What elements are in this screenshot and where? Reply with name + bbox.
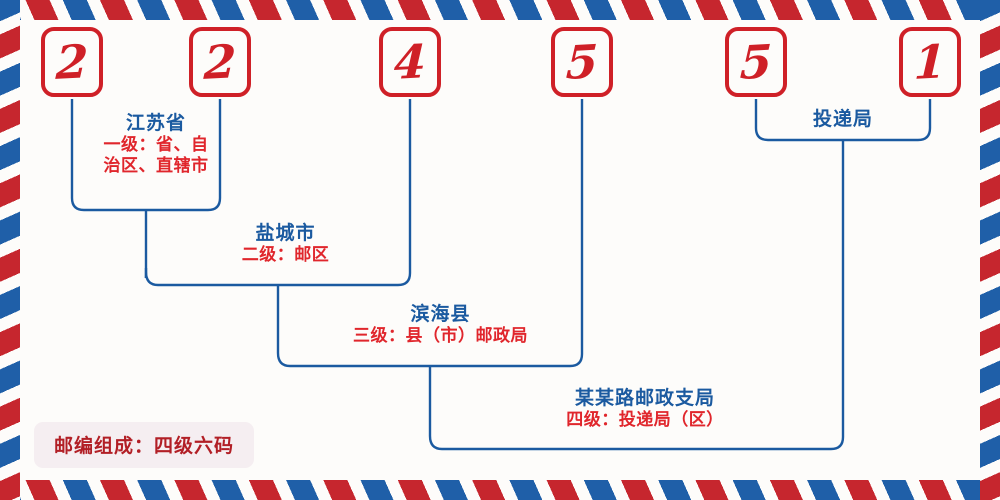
bracket-delivery-branch bbox=[430, 436, 843, 449]
level-node-delivery-branch: 某某路邮政支局 四级：投递局（区） bbox=[450, 387, 840, 431]
level-desc-postal-district: 二级：邮区 bbox=[178, 245, 393, 266]
airmail-stripes bbox=[980, 0, 1000, 500]
level-desc-county: 三级：县（市）邮政局 bbox=[298, 326, 583, 347]
level-node-county: 滨海县 三级：县（市）邮政局 bbox=[298, 303, 583, 347]
level-node-postal-district: 盐城市 二级：邮区 bbox=[178, 222, 393, 266]
digit-glyph-5: 5 bbox=[739, 38, 773, 86]
level-desc-province-line1: 一级：省、自 bbox=[76, 135, 236, 156]
airmail-border-bottom bbox=[0, 480, 1000, 500]
digit-box-1[interactable]: 2 bbox=[41, 27, 103, 97]
legend-badge: 邮编组成：四级六码 bbox=[34, 422, 254, 468]
digit-box-6[interactable]: 1 bbox=[899, 27, 961, 97]
digit-glyph-3: 4 bbox=[393, 38, 427, 86]
digit-glyph-2: 2 bbox=[203, 38, 237, 86]
level-name-province: 江苏省 bbox=[76, 112, 236, 135]
level-desc-delivery-branch: 四级：投递局（区） bbox=[450, 410, 840, 431]
level-name-delivery-office: 投递局 bbox=[762, 108, 924, 131]
level-name-county: 滨海县 bbox=[298, 303, 583, 326]
airmail-border-left bbox=[0, 0, 20, 500]
airmail-border-top bbox=[0, 0, 1000, 20]
digit-box-4[interactable]: 5 bbox=[551, 27, 613, 97]
airmail-stripes bbox=[0, 480, 1000, 500]
digit-box-2[interactable]: 2 bbox=[189, 27, 251, 97]
airmail-border-right bbox=[980, 0, 1000, 500]
digit-glyph-6: 1 bbox=[913, 38, 947, 86]
digit-box-5[interactable]: 5 bbox=[725, 27, 787, 97]
level-node-delivery-office: 投递局 bbox=[762, 108, 924, 131]
airmail-stripes bbox=[0, 0, 20, 500]
digit-glyph-4: 5 bbox=[565, 38, 599, 86]
level-name-postal-district: 盐城市 bbox=[178, 222, 393, 245]
digit-box-3[interactable]: 4 bbox=[379, 27, 441, 97]
level-name-delivery-branch: 某某路邮政支局 bbox=[450, 387, 840, 410]
digit-glyph-1: 2 bbox=[55, 38, 89, 86]
level-node-province: 江苏省 一级：省、自 治区、直辖市 bbox=[76, 112, 236, 177]
airmail-stripes bbox=[0, 0, 1000, 20]
level-desc-province-line2: 治区、直辖市 bbox=[76, 156, 236, 177]
postcode-diagram-canvas: 2 2 4 5 5 1 江苏省 一级：省、自 治区、直辖市 盐城市 二级：邮区 … bbox=[0, 0, 1000, 500]
